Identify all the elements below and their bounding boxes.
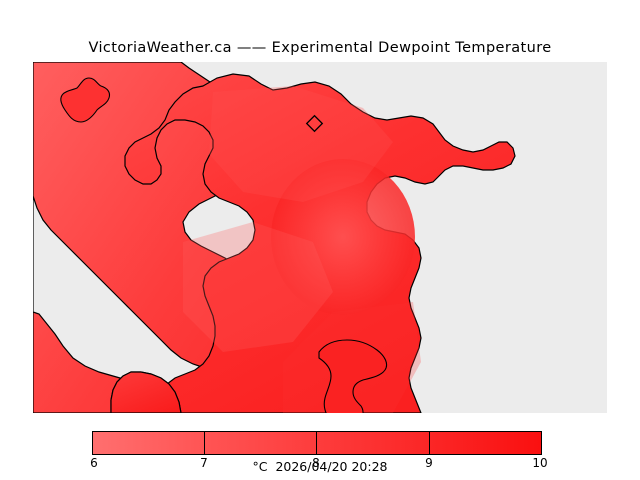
map-canvas[interactable]	[33, 62, 607, 413]
colorbar[interactable]: 6 7 8 9 10	[92, 431, 542, 455]
map-svg	[33, 62, 607, 413]
colorbar-gradient	[92, 431, 542, 455]
weather-map-page: VictoriaWeather.ca —— Experimental Dewpo…	[0, 0, 640, 480]
colorbar-caption: °C 2026/04/20 20:28	[0, 459, 640, 474]
page-title: VictoriaWeather.ca —— Experimental Dewpo…	[0, 40, 640, 56]
